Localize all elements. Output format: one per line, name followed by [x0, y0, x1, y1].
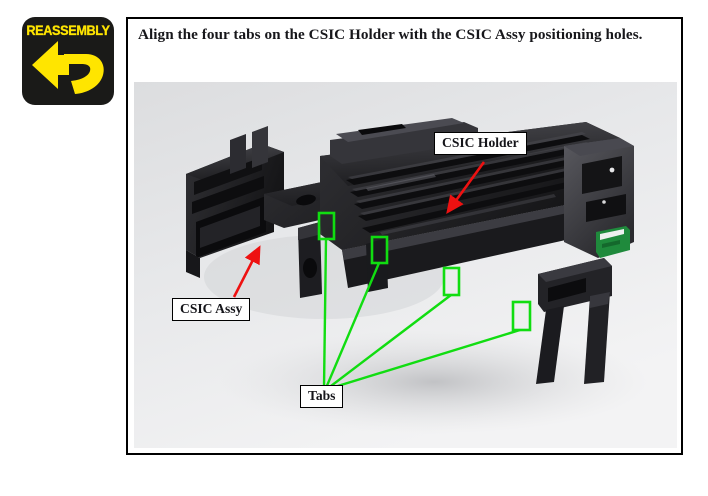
callout-csic-assy: CSIC Assy: [172, 298, 250, 321]
assembly-photo: CSIC Holder CSIC Assy Tabs: [134, 82, 677, 448]
reassembly-badge-label: REASSEMBLY: [25, 24, 111, 38]
photo-illustration: [134, 82, 677, 448]
curved-back-arrow-icon: [28, 37, 108, 99]
callout-tabs: Tabs: [300, 385, 343, 408]
instruction-panel: Align the four tabs on the CSIC Holder w…: [126, 17, 683, 455]
callout-csic-holder: CSIC Holder: [434, 132, 527, 155]
instruction-heading: Align the four tabs on the CSIC Holder w…: [138, 24, 663, 45]
reassembly-badge: REASSEMBLY: [22, 17, 114, 105]
